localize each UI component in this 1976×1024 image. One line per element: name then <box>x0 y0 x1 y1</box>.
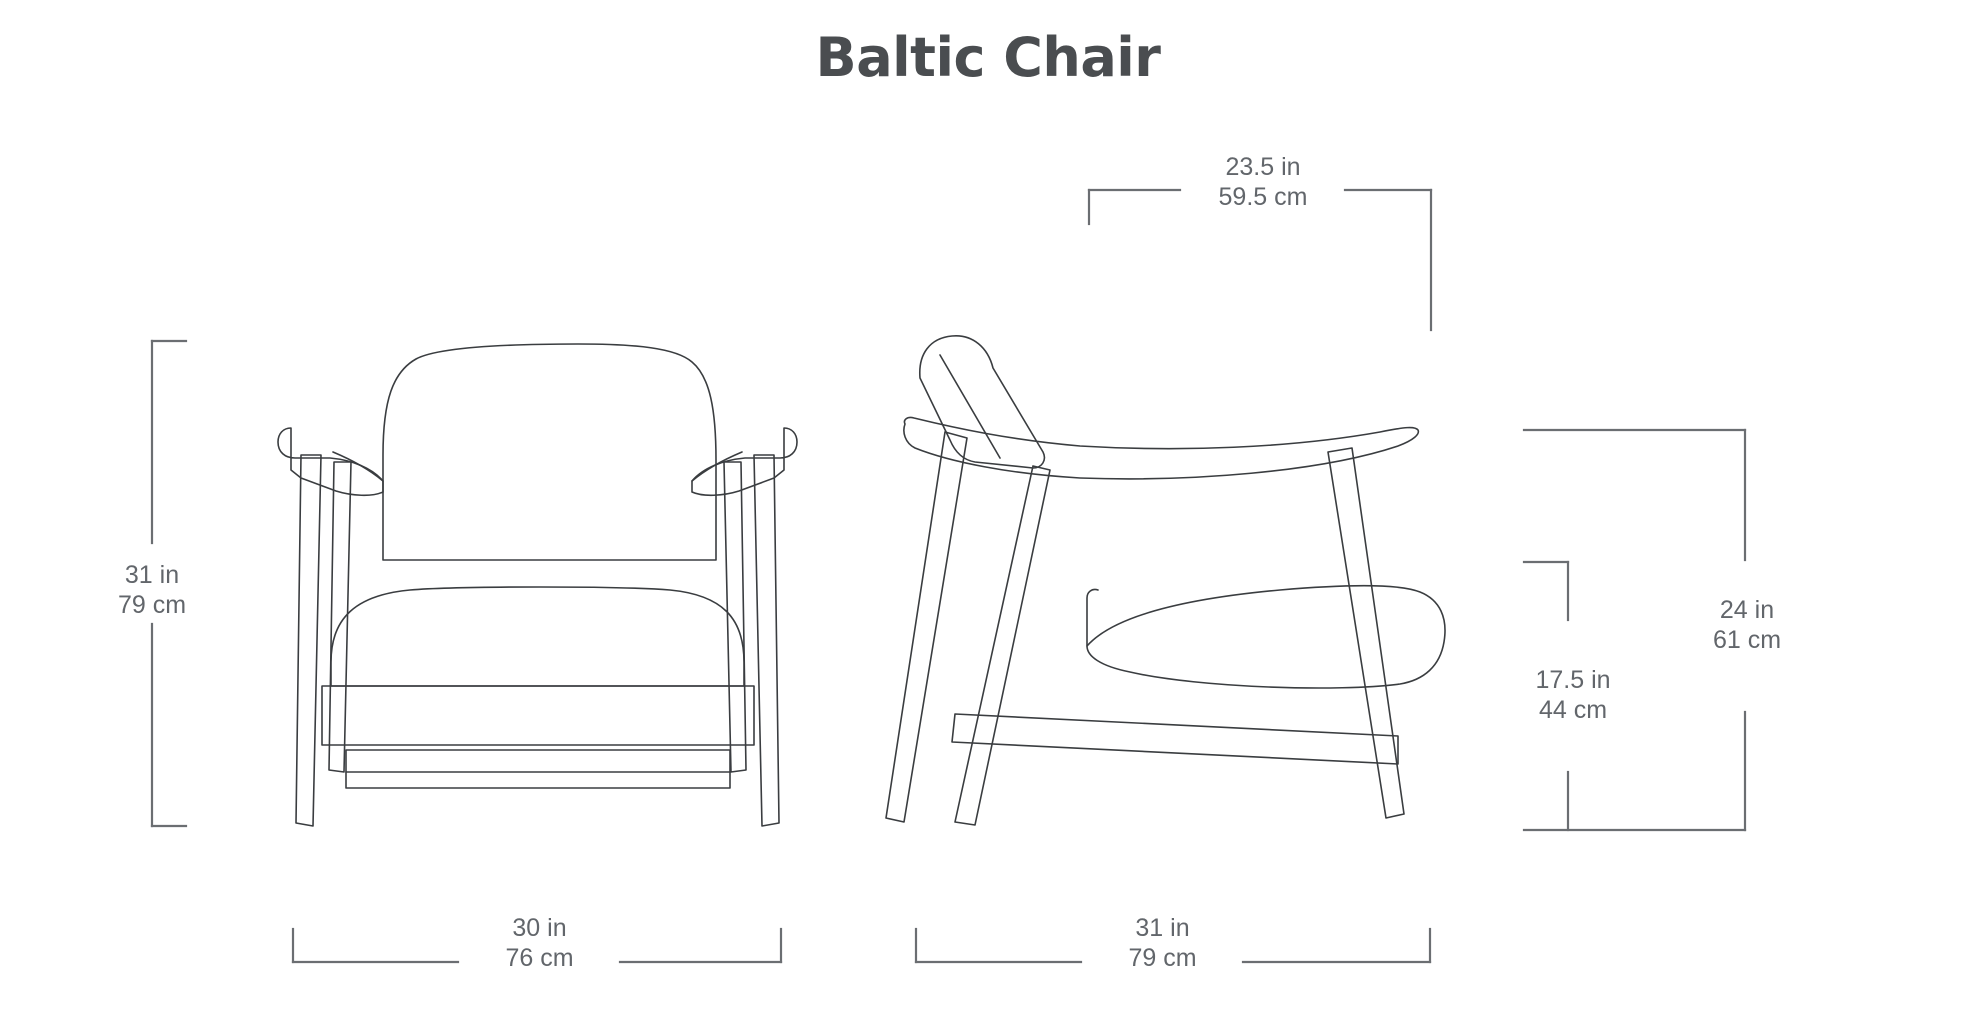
seat-depth-metric: 59.5 cm <box>1180 182 1346 212</box>
front-seat-cushion <box>331 587 744 686</box>
dimension-overall-width-label: 30 in 76 cm <box>457 913 622 973</box>
front-armrest-left <box>278 428 383 495</box>
overall-width-imperial: 30 in <box>512 914 566 942</box>
dimension-seat-depth-label: 23.5 in 59.5 cm <box>1180 152 1346 212</box>
overall-height-metric: 79 cm <box>72 590 232 620</box>
side-rear-leg <box>886 432 967 822</box>
side-stretcher <box>952 714 1398 764</box>
side-seat-support-strut <box>955 466 1050 825</box>
front-armrest-right <box>692 428 797 495</box>
side-backrest-panel <box>920 336 1045 468</box>
overall-height-imperial: 31 in <box>125 561 179 589</box>
arm-height-metric: 61 cm <box>1672 625 1822 655</box>
seat-height-imperial: 17.5 in <box>1535 666 1610 694</box>
side-backrest-panel-inner <box>940 355 1000 458</box>
front-leg-front-right <box>754 455 779 826</box>
dimension-overall-depth-label: 31 in 79 cm <box>1080 913 1245 973</box>
overall-width-metric: 76 cm <box>457 943 622 973</box>
front-leg-front-left <box>296 455 321 826</box>
arm-height-imperial: 24 in <box>1720 596 1774 624</box>
front-lower-stretcher <box>346 750 730 788</box>
seat-depth-imperial: 23.5 in <box>1225 153 1300 181</box>
front-post-rear-right <box>724 462 746 772</box>
dimension-seat-height-label: 17.5 in 44 cm <box>1490 665 1656 725</box>
front-armrest-left-inner-curve <box>333 452 383 481</box>
side-seat-cushion <box>1087 586 1445 688</box>
overall-depth-imperial: 31 in <box>1135 914 1189 942</box>
front-apron-rail <box>322 686 754 745</box>
front-view <box>278 344 797 826</box>
seat-height-metric: 44 cm <box>1490 695 1656 725</box>
front-post-rear-left <box>329 462 351 772</box>
dimension-overall-height-label: 31 in 79 cm <box>72 560 232 620</box>
front-backrest-cushion <box>383 344 716 560</box>
dimension-arm-height-label: 24 in 61 cm <box>1672 595 1822 655</box>
side-view <box>886 336 1445 825</box>
chair-drawings-layer <box>0 0 1976 1024</box>
overall-depth-metric: 79 cm <box>1080 943 1245 973</box>
front-armrest-right-inner-curve <box>692 452 742 481</box>
